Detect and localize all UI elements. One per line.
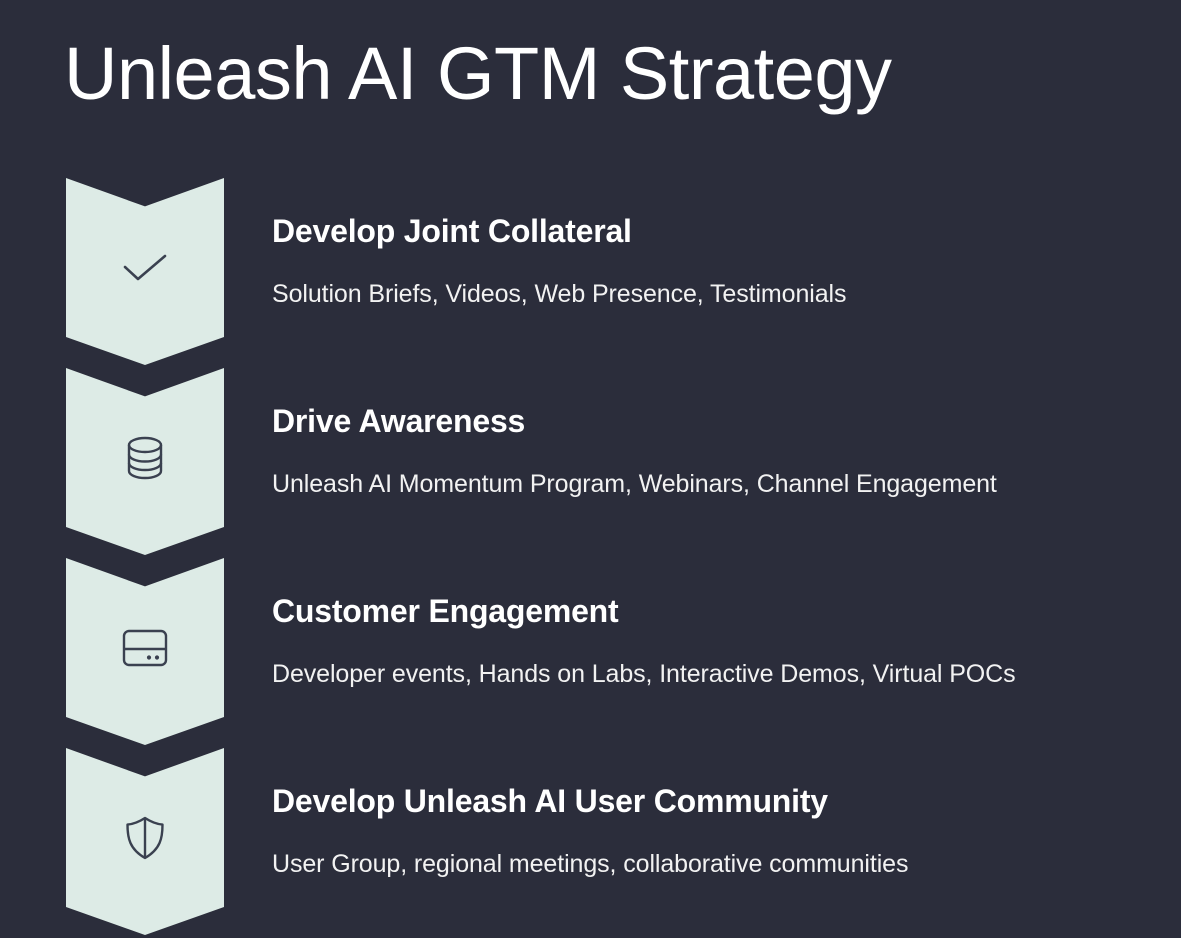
step-chevron-3[interactable] — [66, 558, 224, 745]
step-subtext: User Group, regional meetings, collabora… — [272, 849, 1152, 879]
database-icon — [118, 431, 172, 485]
chevron-step-column — [66, 178, 224, 938]
step-text-4: Develop Unleash AI User Community User G… — [272, 783, 1152, 879]
slide-canvas: Unleash AI GTM Strategy — [0, 0, 1181, 938]
step-text-1: Develop Joint Collateral Solution Briefs… — [272, 213, 1152, 309]
step-heading: Develop Joint Collateral — [272, 213, 1152, 250]
step-heading: Drive Awareness — [272, 403, 1152, 440]
check-icon — [118, 241, 172, 295]
server-icon — [118, 621, 172, 675]
step-subtext: Solution Briefs, Videos, Web Presence, T… — [272, 279, 1152, 309]
step-subtext: Developer events, Hands on Labs, Interac… — [272, 659, 1152, 689]
step-heading: Develop Unleash AI User Community — [272, 783, 1152, 820]
step-heading: Customer Engagement — [272, 593, 1152, 630]
shield-icon — [118, 811, 172, 865]
step-chevron-4[interactable] — [66, 748, 224, 935]
step-text-2: Drive Awareness Unleash AI Momentum Prog… — [272, 403, 1152, 499]
step-chevron-1[interactable] — [66, 178, 224, 365]
step-subtext: Unleash AI Momentum Program, Webinars, C… — [272, 469, 1152, 499]
step-text-3: Customer Engagement Developer events, Ha… — [272, 593, 1152, 689]
step-chevron-2[interactable] — [66, 368, 224, 555]
page-title: Unleash AI GTM Strategy — [64, 34, 892, 114]
